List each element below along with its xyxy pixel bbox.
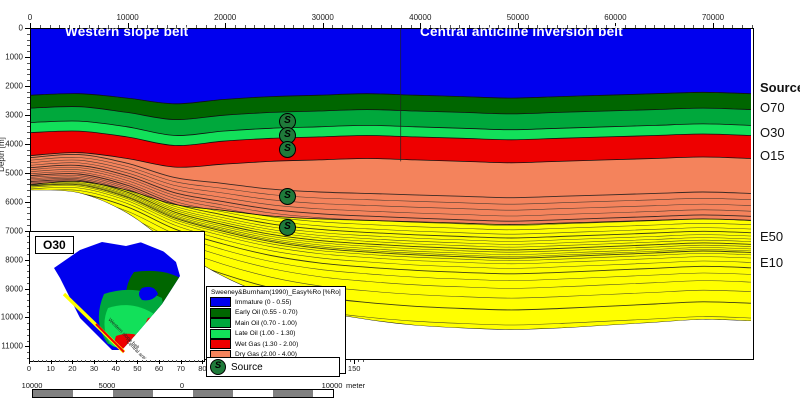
belt-label-western: Western slope belt (65, 24, 188, 39)
inset-axis-tick-label: 20 (68, 364, 76, 373)
depth-axis: 0100020003000400050006000700080009000100… (0, 28, 30, 359)
inset-axis-tick-label: 50 (133, 364, 141, 373)
right-label-o70: O70 (760, 100, 785, 115)
scale-bar: 10000 5000 0 10000 meter (6, 381, 366, 401)
scale-label-3: 10000 (322, 381, 343, 390)
inset-belt-label: Central anticline inversion belt (125, 339, 177, 359)
belt-label-central: Central anticline inversion belt (420, 24, 623, 39)
legend-row: Late Oil (1.00 - 1.30) (210, 329, 342, 340)
source-marker: S (279, 141, 296, 158)
top-axis-tick-label: 60000 (604, 13, 626, 22)
right-label-source: Source (760, 80, 800, 95)
inset-map-tag: O30 (35, 236, 74, 254)
source-legend: S Source (206, 357, 340, 377)
top-axis-tick-label: 10000 (116, 13, 138, 22)
top-axis-tick-label: 30000 (312, 13, 334, 22)
inset-axis-tick-label: 60 (155, 364, 163, 373)
top-axis-tick-label: 70000 (702, 13, 724, 22)
legend-row: Immature (0 - 0.55) (210, 297, 342, 308)
depth-axis-tick-label: 8000 (5, 255, 23, 264)
right-label-o30: O30 (760, 125, 785, 140)
source-legend-label: Source (231, 362, 263, 373)
right-label-o15: O15 (760, 148, 785, 163)
depth-axis-tick-label: 6000 (5, 197, 23, 206)
depth-axis-tick-label: 5000 (5, 168, 23, 177)
depth-axis-tick-label: 0 (19, 24, 23, 33)
legend-row: Main Oil (0.70 - 1.00) (210, 318, 342, 329)
scale-label-0: 10000 (22, 381, 43, 390)
depth-axis-tick-label: 9000 (5, 284, 23, 293)
inset-basin (50, 238, 182, 354)
scale-unit: meter (346, 381, 365, 390)
inset-axis-tick-label: 40 (112, 364, 120, 373)
source-marker: S (279, 219, 296, 236)
depth-axis-tick-label: 1000 (5, 52, 23, 61)
inset-axis-tick-label: 0 (27, 364, 31, 373)
legend-swatch (210, 339, 231, 349)
legend-label: Immature (0 - 0.55) (235, 299, 291, 306)
legend-swatch (210, 297, 231, 307)
maturity-band (31, 29, 751, 104)
top-axis-tick-label: 50000 (507, 13, 529, 22)
depth-axis-tick-label: 3000 (5, 110, 23, 119)
inset-zone-wet-gas (145, 317, 168, 334)
source-legend-icon: S (210, 359, 226, 375)
depth-axis-tick-label: 4000 (5, 139, 23, 148)
depth-axis-tick-label: 2000 (5, 81, 23, 90)
legend-swatch (210, 329, 231, 339)
legend-label: Main Oil (0.70 - 1.00) (235, 320, 297, 327)
right-label-e10: E10 (760, 255, 783, 270)
scale-bar-graphic (32, 389, 334, 398)
top-axis-tick-label: 20000 (214, 13, 236, 22)
legend-row: Early Oil (0.55 - 0.70) (210, 308, 342, 319)
scale-label-1: 5000 (99, 381, 116, 390)
depth-axis-tick-label: 7000 (5, 226, 23, 235)
scale-label-2: 0 (180, 381, 184, 390)
legend-title: Sweeney&Burnham(1990)_Easy%Ro [%Ro] (211, 289, 342, 296)
legend-label: Early Oil (0.55 - 0.70) (235, 309, 298, 316)
legend-label: Late Oil (1.00 - 1.30) (235, 330, 295, 337)
legend-swatch (210, 318, 231, 328)
top-axis-tick-label: 40000 (409, 13, 431, 22)
legend-row: Wet Gas (1.30 - 2.00) (210, 339, 342, 350)
depth-axis-tick-label: 10000 (1, 313, 23, 322)
legend-swatch (210, 308, 231, 318)
legend-label: Wet Gas (1.30 - 2.00) (235, 341, 298, 348)
inset-axis-tick-label: 70 (177, 364, 185, 373)
source-marker: S (279, 188, 296, 205)
top-axis-tick-label: 0 (28, 13, 32, 22)
depth-axis-tick-label: 11000 (1, 342, 23, 351)
inset-axis-tick-label: 30 (90, 364, 98, 373)
depth-axis-label: Depth [m] (0, 137, 6, 172)
inset-axis-tick-label: 10 (47, 364, 55, 373)
inset-axis-tick-label: 150 (348, 364, 361, 373)
right-label-e50: E50 (760, 229, 783, 244)
